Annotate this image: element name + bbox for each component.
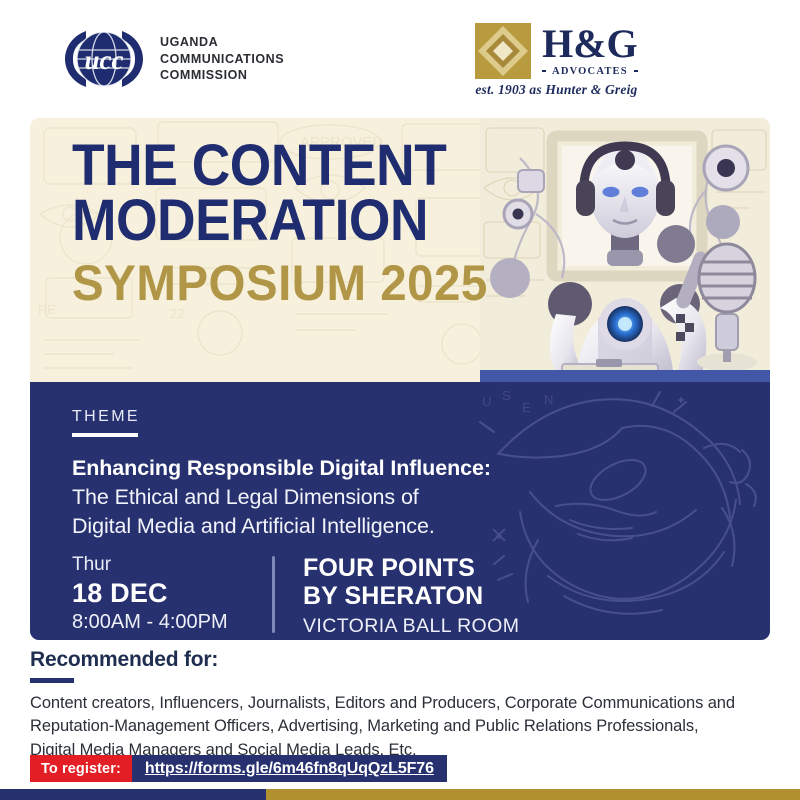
ucc-line-1: UGANDA [160, 34, 284, 51]
venue-line-1: FOUR POINTS [303, 554, 519, 582]
register-label-badge: To register: [30, 755, 132, 782]
poster-card: APPROVED RE 22 [30, 118, 770, 640]
hg-advocates-row: ADVOCATES [542, 66, 638, 77]
poster-title-line-1: THE CONTENT [72, 138, 486, 193]
theme-subline-2: Digital Media and Artificial Intelligenc… [72, 512, 592, 541]
event-date-group: Thur 18 DEC 8:00AM - 4:00PM [72, 554, 272, 639]
venue-room: VICTORIA BALL ROOM [303, 613, 519, 639]
poster-title-line-2: MODERATION [72, 193, 486, 248]
recommended-body: Content creators, Influencers, Journalis… [30, 692, 746, 762]
svg-text:S: S [502, 388, 511, 403]
title-block: APPROVED RE 22 [30, 118, 770, 382]
svg-text:N: N [544, 392, 553, 407]
ucc-logo-lockup: ucc UGANDA COMMUNICATIONS COMMISSION [62, 26, 284, 92]
ucc-globe-icon: ucc [62, 26, 146, 92]
svg-text:U: U [482, 394, 491, 409]
theme-subline-1: The Ethical and Legal Dimensions of [72, 483, 592, 512]
hg-wordmark: H&G [542, 24, 638, 63]
svg-text:RE: RE [38, 302, 56, 317]
hg-diamond-icon [475, 23, 531, 79]
ucc-line-2: COMMUNICATIONS [160, 51, 284, 68]
register-url-link[interactable]: https://forms.gle/6m46fn8qUqQzL5F76 [132, 755, 447, 782]
venue-line-2: BY SHERATON [303, 582, 519, 610]
theme-block: US EN THEME Enhancing Responsible Digita… [30, 382, 770, 640]
vertical-divider [272, 556, 275, 633]
theme-kicker: THEME [72, 408, 592, 426]
event-time: 8:00AM - 4:00PM [72, 610, 272, 635]
hg-logo-lockup: H&G ADVOCATES est. 1903 as Hunter & Grei… [469, 19, 644, 100]
register-bar: To register: https://forms.gle/6m46fn8qU… [30, 755, 447, 782]
when-where-row: Thur 18 DEC 8:00AM - 4:00PM FOUR POINTS … [72, 554, 519, 639]
poster-title-group: THE CONTENT MODERATION SYMPOSIUM 2025 [72, 138, 522, 309]
ucc-line-3: COMMISSION [160, 67, 284, 84]
theme-underline [72, 433, 138, 437]
robot-illustration [480, 118, 770, 382]
strip-navy-segment [0, 789, 266, 800]
theme-content: THEME Enhancing Responsible Digital Infl… [72, 408, 592, 540]
recommended-underline [30, 678, 74, 683]
ucc-wordmark: UGANDA COMMUNICATIONS COMMISSION [160, 34, 284, 84]
event-date: 18 DEC [72, 577, 272, 610]
theme-headline: Enhancing Responsible Digital Influence: [72, 455, 592, 483]
hg-rule-left [542, 70, 546, 72]
event-weekday: Thur [72, 554, 272, 577]
svg-text:ucc: ucc [85, 45, 124, 75]
recommended-title: Recommended for: [30, 648, 770, 672]
recommended-section: Recommended for: Content creators, Influ… [30, 648, 770, 762]
poster-subtitle: SYMPOSIUM 2025 [72, 258, 500, 309]
hg-established-tagline: est. 1903 as Hunter & Greig [475, 82, 637, 98]
bottom-accent-strip [0, 789, 800, 800]
hg-advocates-label: ADVOCATES [552, 66, 628, 77]
strip-gold-segment [266, 789, 800, 800]
logo-header: ucc UGANDA COMMUNICATIONS COMMISSION H&G [0, 0, 800, 118]
event-venue-group: FOUR POINTS BY SHERATON VICTORIA BALL RO… [303, 554, 519, 639]
hg-rule-right [634, 70, 638, 72]
